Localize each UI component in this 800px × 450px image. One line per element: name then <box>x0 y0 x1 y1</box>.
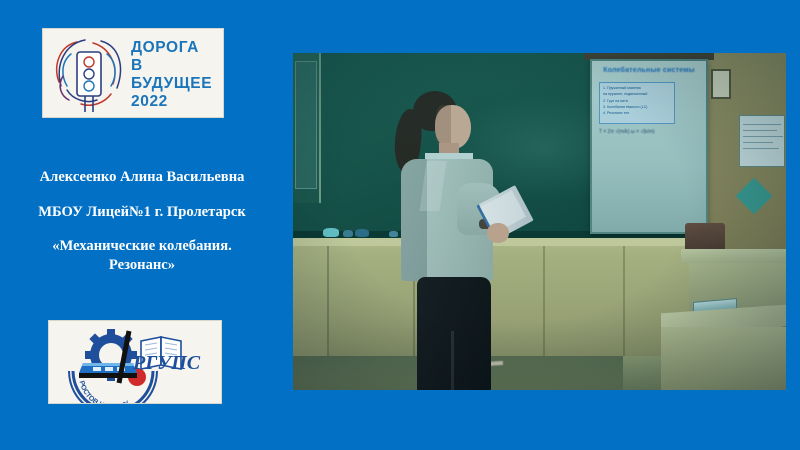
presentation-topic: «Механические колебания. Резонанс» <box>0 237 284 274</box>
teacher-figure <box>383 91 513 390</box>
rgups-abbreviation-text: РГУПС <box>132 352 201 374</box>
projector-screen-bullets: 1. Пружинный маятник на пружине, подвеше… <box>599 82 675 124</box>
left-glass-cabinet <box>293 53 321 203</box>
cabinet-glass-pane <box>295 61 317 189</box>
contest-brand-text: ДОРОГА В БУДУЩЕЕ 2022 <box>131 39 223 111</box>
presenter-school: МБОУ Лицей№1 г. Пролетарск <box>0 203 284 222</box>
wall-poster <box>739 115 785 167</box>
topic-line-2: Резонанс» <box>0 256 284 275</box>
traffic-light-swirl-emblem <box>47 32 131 116</box>
trouser-seam <box>451 331 454 390</box>
brand-line-doroga: ДОРОГА <box>131 39 223 57</box>
desk-object <box>323 228 339 237</box>
trousers <box>417 277 491 390</box>
classroom-video-frame[interactable]: Колебательные системы 1. Пружинный маятн… <box>293 53 786 390</box>
presenter-info-block: Алексеенко Алина Васильевна МБОУ Лицей№1… <box>0 168 284 275</box>
projector-screen-title: Колебательные системы <box>596 67 702 79</box>
presenter-name: Алексеенко Алина Васильевна <box>0 168 284 187</box>
cabinet-left-panel <box>293 246 329 373</box>
hand <box>487 223 509 243</box>
desk-object <box>355 229 369 237</box>
brand-line-year: 2022 <box>131 93 223 111</box>
front-desk-front <box>661 327 786 390</box>
back-desk-top <box>681 249 786 263</box>
cabinet-seam <box>623 246 625 373</box>
rgups-logo-card: РГУПС РОСТОВ-НА-ДОНУ <box>48 320 222 404</box>
presentation-slide: ДОРОГА В БУДУЩЕЕ 2022 Алексеенко Алина В… <box>0 0 800 450</box>
wall-picture-frame <box>711 69 731 99</box>
screen-bullet: 4. Резонанс тел <box>603 110 671 116</box>
rgups-gear-book-train-emblem: РГУПС РОСТОВ-НА-ДОНУ <box>49 321 222 404</box>
desk-object <box>343 230 353 237</box>
cabinet-seam <box>543 246 545 373</box>
contest-logo-card: ДОРОГА В БУДУЩЕЕ 2022 <box>42 28 224 118</box>
topic-line-1: «Механические колебания. <box>0 237 284 256</box>
projector-screen-formula: T = 2π √(m/k) ω = √(k/m) <box>599 129 691 149</box>
brand-line-v-budushchee: В БУДУЩЕЕ <box>131 57 223 93</box>
